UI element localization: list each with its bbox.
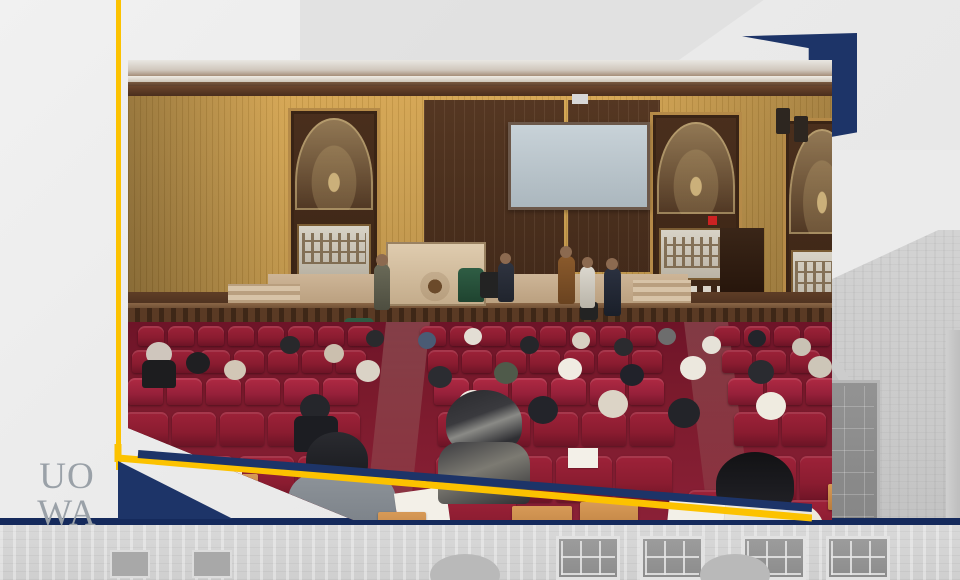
photo-inner xyxy=(128,60,832,520)
uowa-logo: UO WA xyxy=(28,458,106,534)
building-window xyxy=(556,536,620,580)
building-window xyxy=(640,536,704,580)
building-window xyxy=(826,536,890,580)
logo-line-2: WA xyxy=(28,495,106,532)
building-window xyxy=(192,550,232,578)
building-window xyxy=(110,550,150,578)
lecture-hall-photo xyxy=(128,60,832,520)
banner-canvas: UO WA xyxy=(0,0,960,580)
photo-frame xyxy=(128,60,832,520)
logo-line-1: UO xyxy=(28,458,106,495)
yellow-accent-bar xyxy=(116,0,121,470)
campus-building-strip xyxy=(0,524,960,580)
